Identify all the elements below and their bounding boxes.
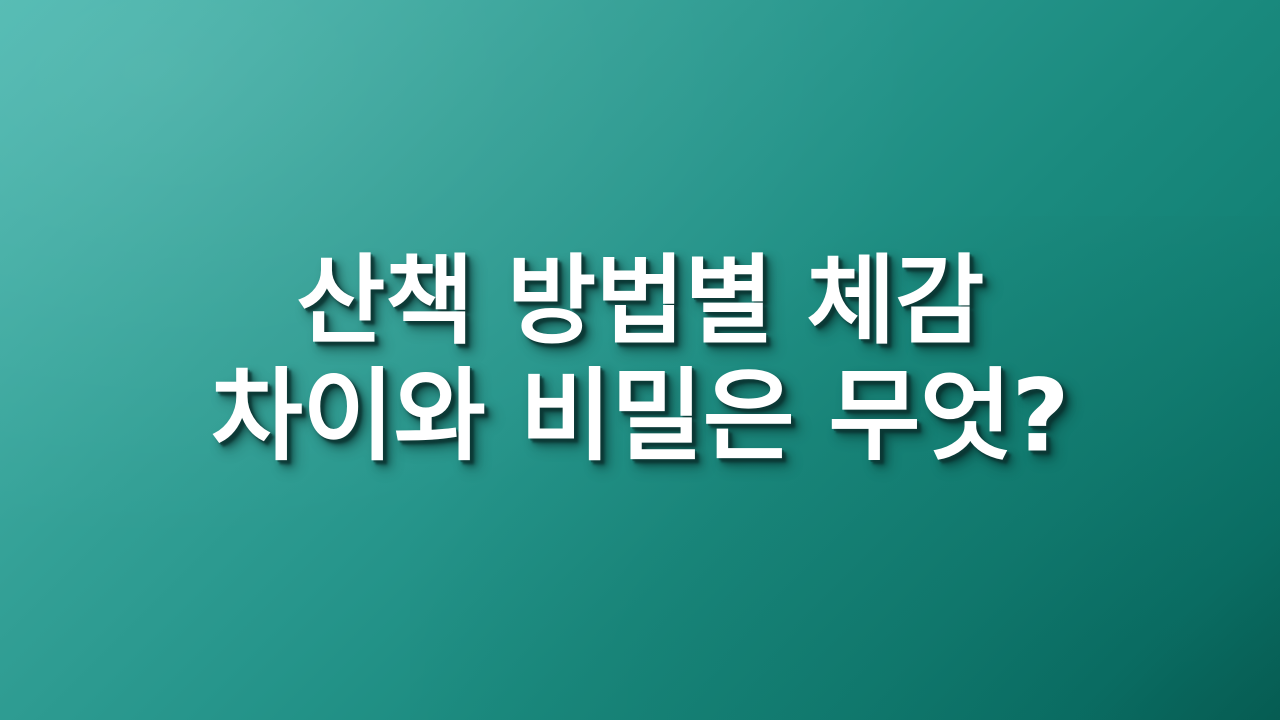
title-card: 산책 방법별 체감 차이와 비밀은 무엇? [0,0,1280,720]
headline-block: 산책 방법별 체감 차이와 비밀은 무엇? [0,247,1280,474]
headline-line-1: 산책 방법별 체감 [296,247,984,358]
background-sheen [0,0,922,533]
headline-line-2: 차이와 비밀은 무엇? [211,359,1069,473]
background-vignette [410,216,1280,720]
